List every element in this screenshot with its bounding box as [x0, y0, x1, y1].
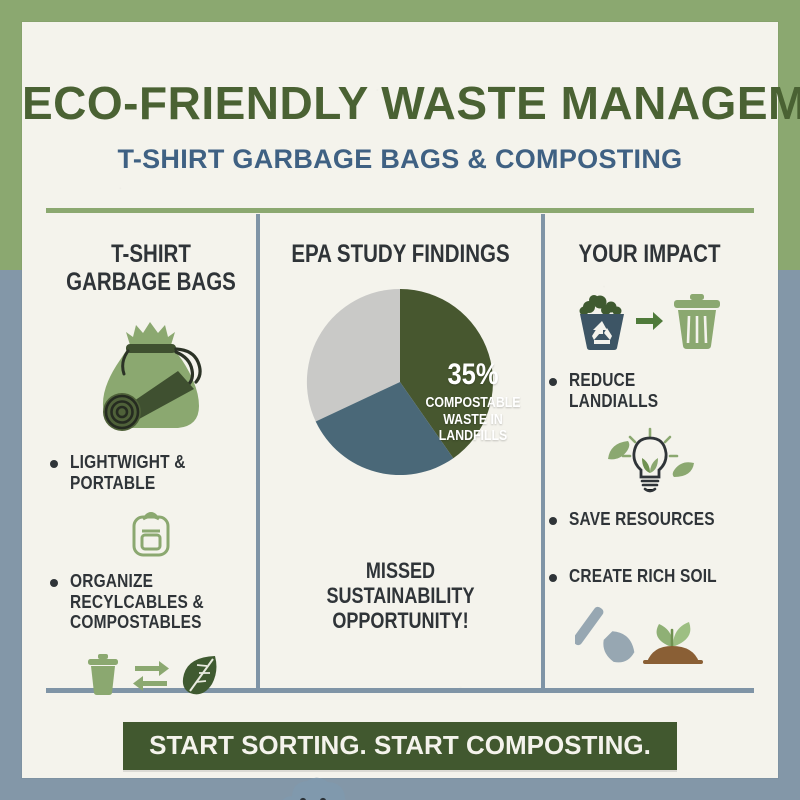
column-heading-right: YOUR IMPACT [545, 240, 754, 268]
trash-can-green-icon [666, 290, 728, 352]
sorting-icons-row [46, 651, 256, 697]
recycle-bin-to-trash-icon [545, 290, 754, 352]
leaf-icon [177, 651, 221, 697]
bullet-list-right-1: REDUCE LANDIALLS [545, 370, 754, 411]
bullet-dot-icon [549, 574, 557, 582]
column-tshirt-bags: T-SHIRT GARBAGE BAGS [46, 214, 256, 697]
bullet-dot-icon [50, 579, 58, 587]
arrow-right-icon [634, 309, 664, 333]
sad-cloud-blue-icon [276, 770, 350, 800]
eco-lightbulb-icon [545, 425, 754, 495]
column-heading-center: EPA STUDY FINDINGS [260, 240, 541, 268]
garbage-bag-roll-icon [46, 316, 256, 434]
infographic-page: ECO-FRIENDLY WASTE MANAGEMENT T-SHIRT GA… [0, 0, 800, 800]
exchange-arrows-icon [131, 654, 171, 694]
missed-opportunity-message: MISSED SUSTAINABILITY OPPORTUNITY! [260, 558, 541, 633]
list-item: REDUCE LANDIALLS [549, 370, 754, 411]
shovel-and-sprout-icon [545, 600, 754, 666]
list-item: CREATE RICH SOIL [549, 566, 754, 587]
cta-banner[interactable]: START SORTING. START COMPOSTING. [123, 722, 677, 770]
bullet-list-left-2: ORGANIZE RECYLCABLES & COMPOSTABLES [46, 571, 256, 633]
list-item: ORGANIZE RECYLCABLES & COMPOSTABLES [50, 571, 256, 633]
column-epa-findings: EPA STUDY FINDINGS 35% COMPOSTABLE WASTE… [260, 214, 541, 633]
backpack-icon [46, 509, 256, 559]
sad-cloud-green-icon [456, 794, 526, 800]
footer-banner: START SORTING. START COMPOSTING. [22, 722, 778, 770]
header-divider [46, 208, 754, 213]
bullet-dot-icon [549, 517, 557, 525]
list-item: LIGHTWIGHT & PORTABLE [50, 452, 256, 493]
pie-data-label: 35% COMPOSTABLE WASTE IN LANDFILLS [412, 360, 534, 445]
bullet-list-left-1: LIGHTWIGHT & PORTABLE [46, 452, 256, 493]
trash-can-icon [81, 651, 125, 697]
bullet-list-right-3: CREATE RICH SOIL [545, 566, 754, 587]
infographic-card: ECO-FRIENDLY WASTE MANAGEMENT T-SHIRT GA… [22, 22, 778, 778]
pie-chart: 35% COMPOSTABLE WASTE IN LANDFILLS [260, 282, 541, 482]
bullet-dot-icon [50, 460, 58, 468]
column-heading-left: T-SHIRT GARBAGE BAGS [46, 240, 256, 296]
page-title: ECO-FRIENDLY WASTE MANAGEMENT [22, 80, 778, 126]
bullet-dot-icon [549, 378, 557, 386]
page-subtitle: T-SHIRT GARBAGE BAGS & COMPOSTING [22, 146, 778, 173]
list-item: SAVE RESOURCES [549, 509, 754, 530]
column-your-impact: YOUR IMPACT [545, 214, 754, 666]
bullet-list-right-2: SAVE RESOURCES [545, 509, 754, 530]
